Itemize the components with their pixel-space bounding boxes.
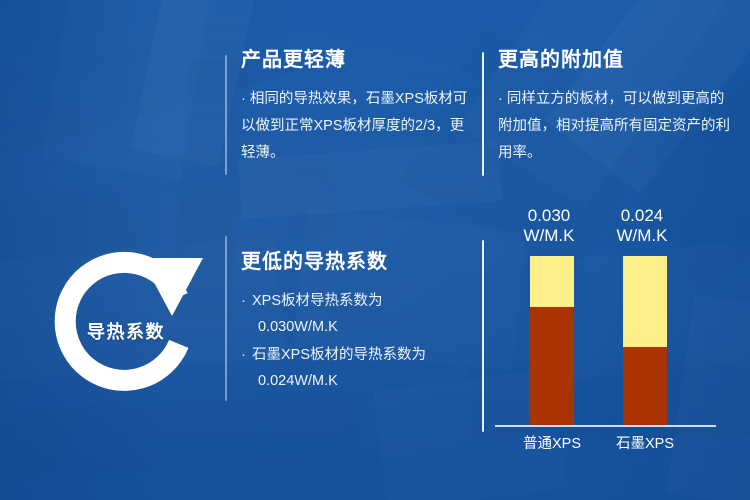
bar-normal-xps (530, 256, 574, 425)
list-item: ·石墨XPS板材的导热系数为 0.024W/M.K (241, 342, 473, 394)
panel-value-body: · 同样立方的板材，可以做到更高的附加值，相对提高所有固定资产的利用率。 (498, 86, 730, 167)
bar-2-segment-top (623, 256, 667, 347)
bar-value-number-2: 0.024 (601, 206, 683, 226)
divider-top-left (225, 55, 227, 175)
bar-category-label-1: 普通XPS (510, 432, 594, 453)
bullet-line-1: XPS板材导热系数为 (252, 293, 383, 309)
panel-conductivity-title: 更低的导热系数 (241, 250, 473, 274)
chart-baseline (495, 425, 716, 427)
bullet-marker: · (241, 342, 252, 368)
conductivity-bar-chart: 0.030 W/M.K 0.024 W/M.K 普通XPS 石墨XPS (488, 196, 738, 454)
bullet-marker: · (241, 288, 252, 314)
bar-1-segment-top (530, 256, 574, 307)
bar-graphite-xps (623, 256, 667, 425)
bar-category-label-2: 石墨XPS (603, 432, 687, 453)
conductivity-bullet-list: ·XPS板材导热系数为 0.030W/M.K ·石墨XPS板材的导热系数为 0.… (241, 288, 473, 394)
bullet-line-1: 石墨XPS板材的导热系数为 (252, 347, 426, 363)
divider-bottom-left (225, 236, 227, 401)
bar-value-unit-1: W/M.K (508, 226, 590, 246)
divider-top-right (482, 52, 484, 176)
panel-value-title: 更高的附加值 (498, 48, 730, 72)
panel-added-value: 更高的附加值 · 同样立方的板材，可以做到更高的附加值，相对提高所有固定资产的利… (498, 48, 730, 167)
panel-lower-conductivity: 更低的导热系数 ·XPS板材导热系数为 0.030W/M.K ·石墨XPS板材的… (241, 250, 473, 396)
panel-lighter-product: 产品更轻薄 · 相同的导热效果，石墨XPS板材可以做到正常XPS板材厚度的2/3… (241, 48, 469, 167)
thermal-conductivity-badge: 导热系数 (28, 248, 218, 413)
category-text-2: 石墨XPS (616, 436, 674, 452)
infographic-canvas: 产品更轻薄 · 相同的导热效果，石墨XPS板材可以做到正常XPS板材厚度的2/3… (0, 0, 750, 500)
bar-value-label-2: 0.024 W/M.K (601, 206, 683, 246)
divider-bottom-right (482, 240, 484, 432)
bar-value-number-1: 0.030 (508, 206, 590, 226)
bullet-line-2: 0.030W/M.K (241, 314, 473, 340)
bullet-line-2: 0.024W/M.K (241, 368, 473, 394)
bar-1-segment-bottom (530, 307, 574, 425)
list-item: ·XPS板材导热系数为 0.030W/M.K (241, 288, 473, 340)
panel-lighter-body: · 相同的导热效果，石墨XPS板材可以做到正常XPS板材厚度的2/3，更轻薄。 (241, 86, 469, 167)
bar-value-label-1: 0.030 W/M.K (508, 206, 590, 246)
bar-2-segment-bottom (623, 347, 667, 425)
bar-value-unit-2: W/M.K (601, 226, 683, 246)
panel-lighter-title: 产品更轻薄 (241, 48, 469, 72)
circular-arrow-icon (28, 248, 218, 413)
category-text-1: 普通XPS (523, 436, 581, 452)
